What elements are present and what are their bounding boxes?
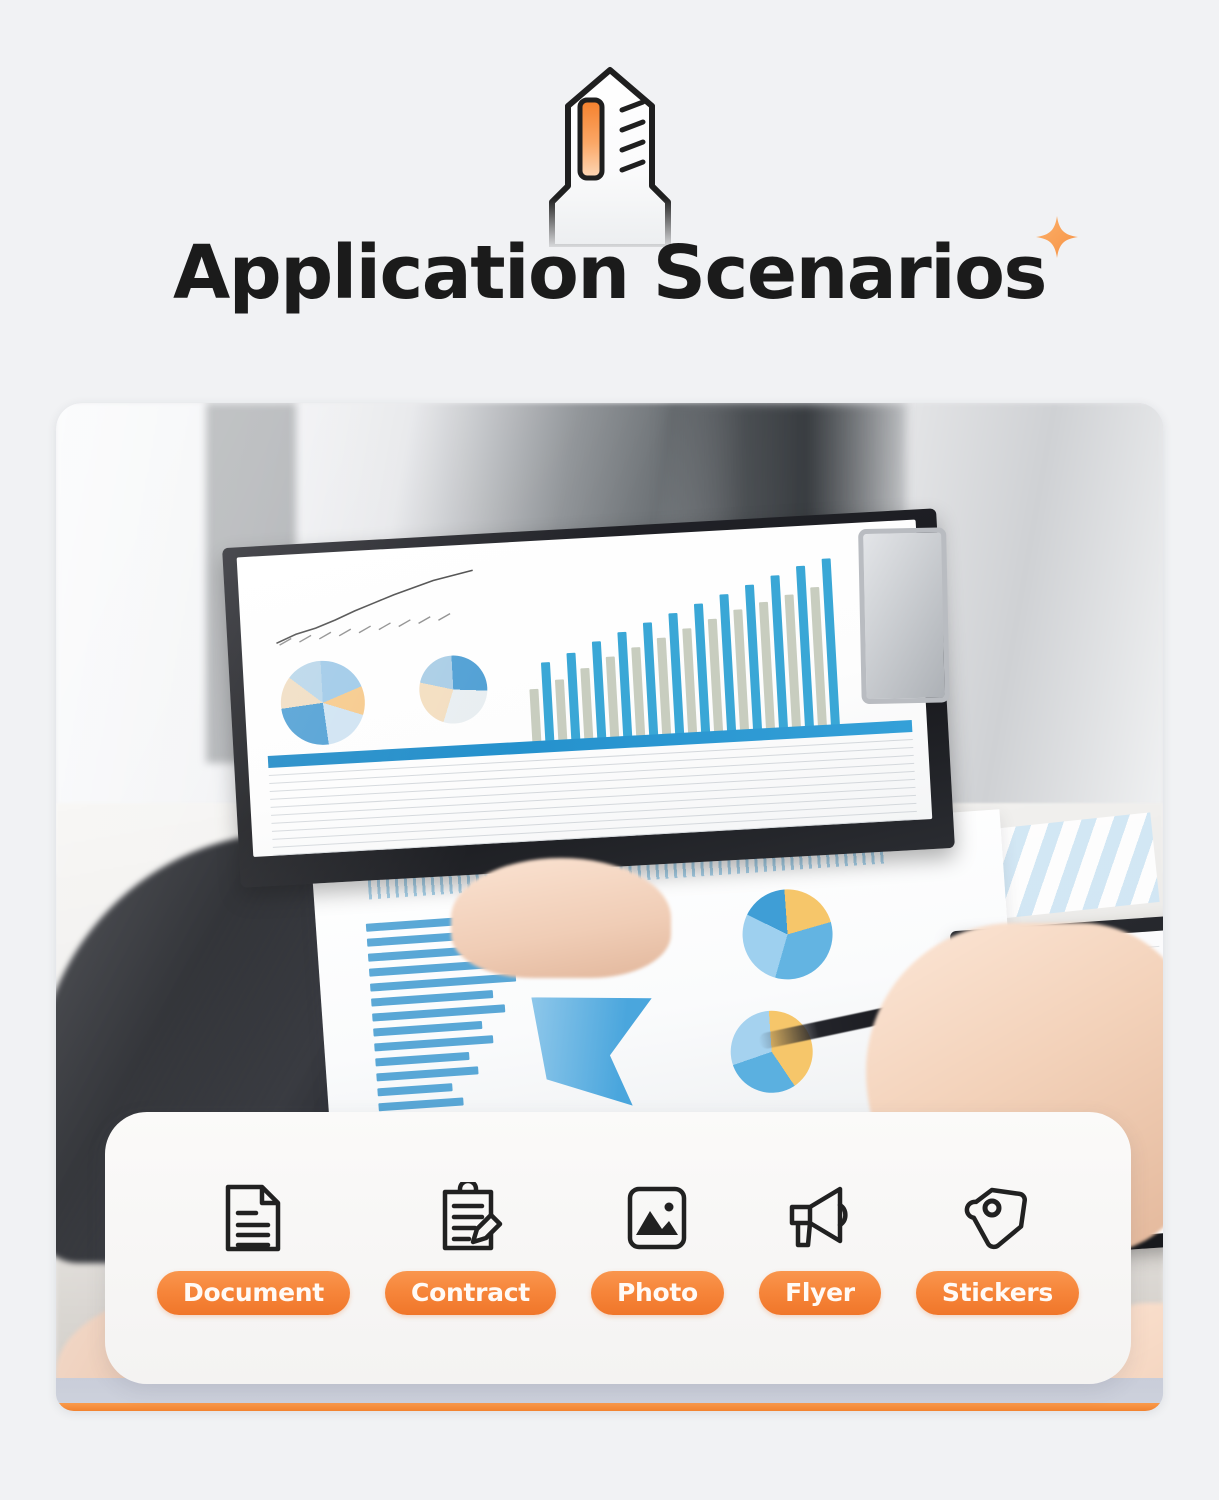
page-title-row: Application Scenarios — [0, 236, 1219, 310]
paper-pie-chart-2 — [728, 1008, 816, 1096]
sparkle-icon — [1034, 214, 1080, 260]
clipboard-pen-icon — [433, 1181, 507, 1255]
chip-label-flyer[interactable]: Flyer — [759, 1271, 881, 1315]
chip-label-contract[interactable]: Contract — [385, 1271, 556, 1315]
clipboard-pie-chart-2 — [417, 654, 489, 726]
chip-contract[interactable]: Contract — [385, 1181, 556, 1315]
clipboard — [222, 508, 955, 887]
chip-label-stickers[interactable]: Stickers — [916, 1271, 1079, 1315]
clipboard-data-table — [268, 720, 917, 851]
page-title: Application Scenarios — [173, 230, 1046, 316]
orange-accent-bar — [56, 1403, 1163, 1411]
page-header: Application Scenarios — [0, 0, 1219, 392]
clipboard-pie-chart-1 — [279, 659, 368, 748]
paper-pie-chart-1 — [740, 886, 836, 982]
clipboard-report — [237, 519, 933, 856]
chip-label-photo[interactable]: Photo — [591, 1271, 724, 1315]
megaphone-icon — [783, 1181, 857, 1255]
chip-photo[interactable]: Photo — [591, 1181, 724, 1315]
building-tower-icon — [500, 62, 720, 247]
chip-label-document[interactable]: Document — [157, 1271, 350, 1315]
clipboard-bar-chart — [522, 531, 903, 751]
tag-icon — [960, 1181, 1034, 1255]
chip-stickers[interactable]: Stickers — [916, 1181, 1079, 1315]
clipboard-clamp — [858, 527, 950, 704]
chip-document[interactable]: Document — [157, 1181, 350, 1315]
hand-holding-clipboard-top — [451, 858, 671, 978]
scenario-chips-card: Document Contract Photo — [105, 1112, 1131, 1384]
image-icon — [620, 1181, 694, 1255]
paper-funnel-chart — [531, 989, 659, 1112]
document-icon — [216, 1181, 290, 1255]
clipboard-line-chart — [268, 563, 497, 650]
chip-flyer[interactable]: Flyer — [759, 1181, 881, 1315]
